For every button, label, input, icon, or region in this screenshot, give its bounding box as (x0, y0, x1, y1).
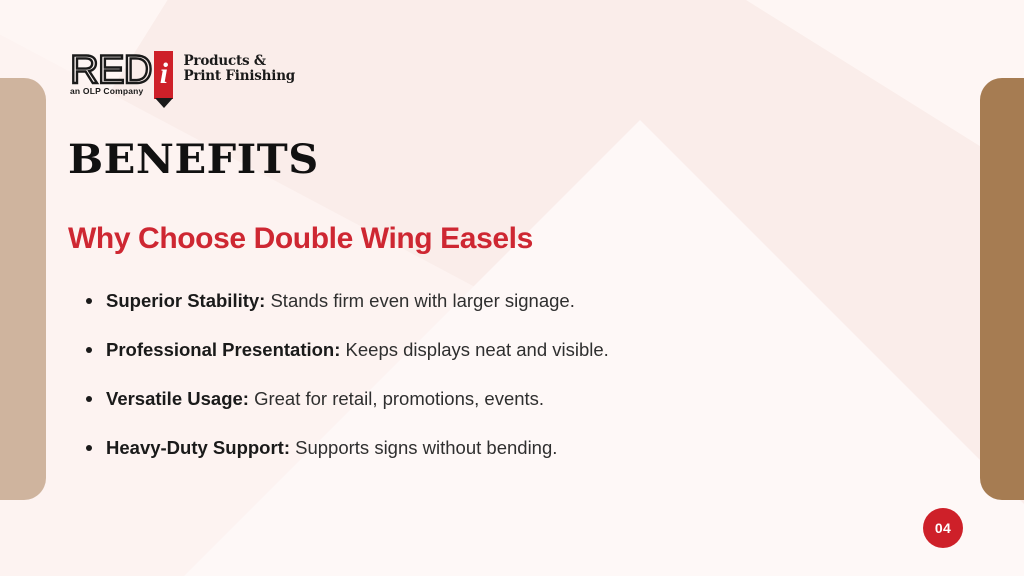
list-item: Heavy-Duty Support: Supports signs witho… (84, 435, 944, 461)
page-title: BENEFITS (68, 138, 319, 182)
list-item-desc: Supports signs without bending. (290, 437, 557, 458)
decorative-bar-right (980, 78, 1024, 500)
section-subtitle: Why Choose Double Wing Easels (68, 220, 533, 258)
logo-tagline-line-1: Products & (183, 54, 295, 69)
logo-company-line: an OLP Company (70, 86, 151, 96)
list-item: Versatile Usage: Great for retail, promo… (84, 386, 944, 412)
list-item-lead: Professional Presentation: (106, 339, 340, 360)
list-item-lead: Versatile Usage: (106, 388, 249, 409)
benefits-list: Superior Stability: Stands firm even wit… (84, 288, 944, 484)
logo-i-mark-icon: i (154, 51, 173, 99)
list-item-desc: Stands firm even with larger signage. (265, 290, 575, 311)
logo-wordmark-text: RED (70, 50, 151, 90)
decorative-bar-left (0, 78, 46, 500)
list-item-desc: Keeps displays neat and visible. (340, 339, 608, 360)
list-item: Superior Stability: Stands firm even wit… (84, 288, 944, 314)
page-number-badge: 04 (923, 508, 963, 548)
logo-tagline: Products & Print Finishing (183, 54, 295, 84)
logo-wordmark-group: RED an OLP Company (70, 50, 151, 96)
list-item-lead: Heavy-Duty Support: (106, 437, 290, 458)
list-item-desc: Great for retail, promotions, events. (249, 388, 544, 409)
logo-tagline-line-2: Print Finishing (183, 69, 295, 84)
page-number-text: 04 (935, 520, 951, 536)
list-item-lead: Superior Stability: (106, 290, 265, 311)
brand-logo: RED an OLP Company i Products & Print Fi… (70, 50, 295, 99)
list-item: Professional Presentation: Keeps display… (84, 337, 944, 363)
slide-canvas: RED an OLP Company i Products & Print Fi… (0, 0, 1024, 576)
logo-i-letter: i (160, 59, 168, 89)
